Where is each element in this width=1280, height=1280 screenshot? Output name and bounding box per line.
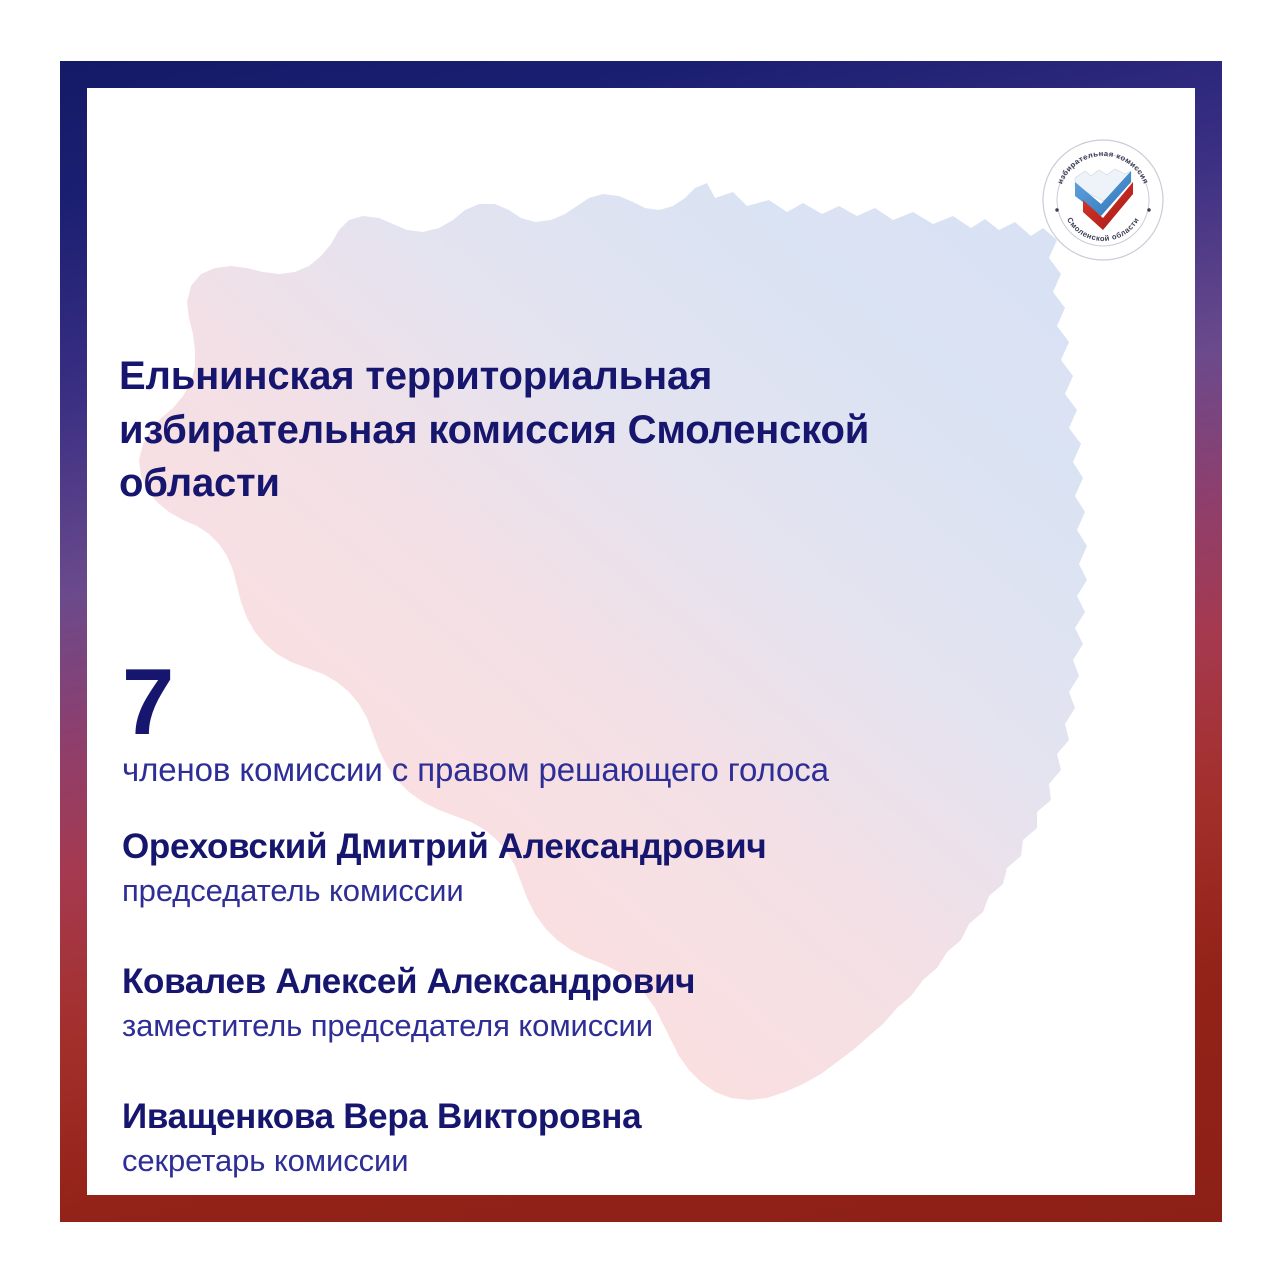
person-role: председатель комиссии xyxy=(122,872,1082,911)
person-entry: Ковалев Алексей Александрович заместител… xyxy=(122,961,1082,1046)
commission-title: Ельнинская территориальная избирательная… xyxy=(119,350,879,511)
person-entry: Ореховский Дмитрий Александрович председ… xyxy=(122,826,1082,911)
emblem-dot-right xyxy=(1147,208,1150,211)
poster-text-content: Ельнинская территориальная избирательная… xyxy=(119,88,1129,1195)
member-count-caption: членов комиссии с правом решающего голос… xyxy=(122,750,829,790)
person-name: Иващенкова Вера Викторовна xyxy=(122,1096,1082,1137)
person-name: Ковалев Алексей Александрович xyxy=(122,961,1082,1002)
person-name: Ореховский Дмитрий Александрович xyxy=(122,826,1082,867)
tricolor-gradient-frame: избирательная комиссия Смоленской област… xyxy=(60,61,1222,1222)
person-entry: Иващенкова Вера Викторовна секретарь ком… xyxy=(122,1096,1082,1181)
person-role: заместитель председателя комиссии xyxy=(122,1007,1082,1046)
poster-canvas: избирательная комиссия Смоленской област… xyxy=(0,0,1280,1280)
poster-inner-panel: избирательная комиссия Смоленской област… xyxy=(87,88,1195,1195)
member-count-number: 7 xyxy=(122,655,173,749)
person-role: секретарь комиссии xyxy=(122,1142,1082,1181)
